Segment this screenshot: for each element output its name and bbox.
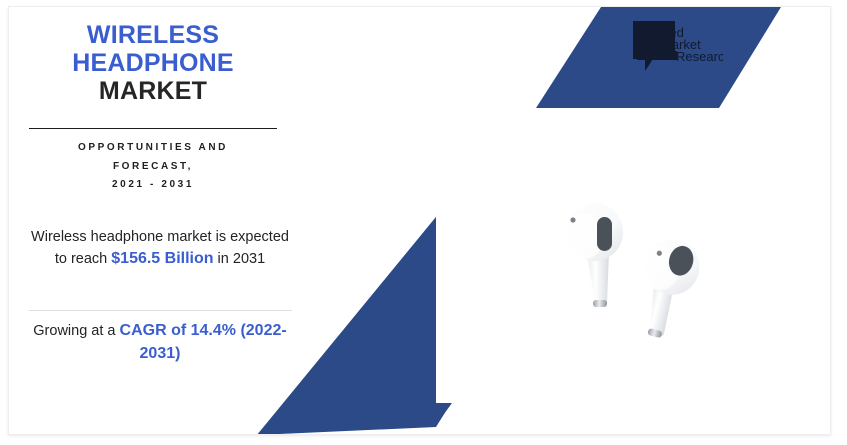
allied-market-research-logo: Allied Market Research bbox=[631, 19, 723, 77]
earbud-right bbox=[628, 233, 706, 343]
logo-line3: Research bbox=[676, 49, 723, 64]
subtitle-line-1: OPPORTUNITIES AND bbox=[21, 139, 285, 158]
logo-svg: Allied Market Research bbox=[631, 19, 723, 77]
market-size-statement: Wireless headphone market is expected to… bbox=[27, 227, 293, 270]
title-line-1: WIRELESS bbox=[21, 21, 285, 49]
infographic-card: Allied Market Research WIRELESS HEADPHON… bbox=[8, 6, 831, 435]
earbud-left bbox=[566, 203, 623, 307]
subtitle: OPPORTUNITIES AND FORECAST, 2021 - 2031 bbox=[21, 139, 285, 195]
title-line-3: MARKET bbox=[21, 77, 285, 105]
wireless-earbuds-photo bbox=[557, 195, 733, 347]
page-title: WIRELESS HEADPHONE MARKET bbox=[21, 21, 285, 105]
stat-divider bbox=[29, 310, 292, 311]
title-line-2: HEADPHONE bbox=[21, 49, 285, 77]
cagr-prefix: Growing at a bbox=[33, 323, 119, 339]
earbuds-svg bbox=[557, 195, 733, 347]
subtitle-line-2: FORECAST, bbox=[21, 158, 285, 177]
cagr-value: CAGR of 14.4% (2022-2031) bbox=[120, 322, 287, 362]
market-size-suffix: in 2031 bbox=[214, 251, 266, 267]
subtitle-line-3: 2021 - 2031 bbox=[21, 176, 285, 195]
title-divider bbox=[29, 128, 277, 129]
market-size-value: $156.5 Billion bbox=[111, 250, 213, 267]
cagr-statement: Growing at a CAGR of 14.4% (2022-2031) bbox=[27, 319, 293, 365]
